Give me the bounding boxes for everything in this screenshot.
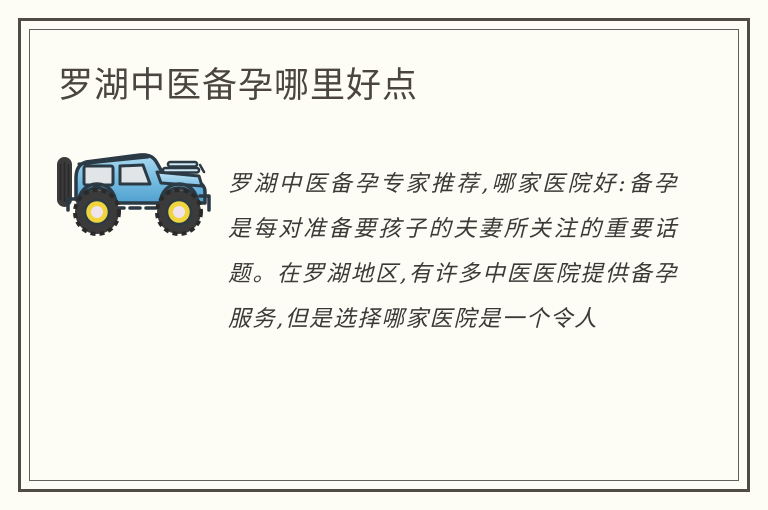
article-content: 罗湖中医备孕专家推荐,哪家医院好:备孕是每对准备要孩子的夫妻所关注的重要话题。在… [50,140,720,440]
front-wheel-icon [75,190,119,234]
rear-wheel-icon [157,190,201,234]
page-title: 罗湖中医备孕哪里好点 [58,63,698,109]
article-body-text: 罗湖中医备孕专家推荐,哪家医院好:备孕是每对准备要孩子的夫妻所关注的重要话题。在… [228,162,678,342]
roof-rack-icon [163,162,204,173]
article-card: 罗湖中医备孕哪里好点 [0,0,768,510]
jeep-suv-icon [50,140,215,245]
